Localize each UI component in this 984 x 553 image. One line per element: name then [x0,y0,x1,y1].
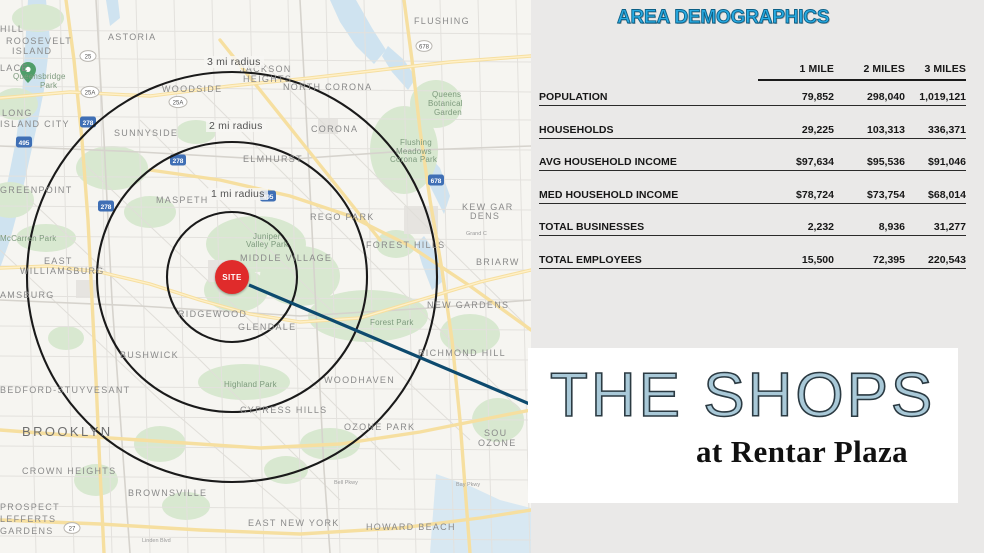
row-underline [539,105,966,106]
table-row: MED HOUSEHOLD INCOME$78,724$73,754$68,01… [536,182,966,215]
svg-text:495: 495 [19,140,30,147]
row-label: POPULATION [539,91,608,103]
table-row: POPULATION79,852298,0401,019,121 [536,84,966,117]
header-underline [758,79,966,81]
svg-text:25A: 25A [85,90,96,96]
svg-text:278: 278 [173,158,184,165]
row-underline [539,138,966,139]
map-basemap: 278 495 278 278 [0,0,531,553]
table-row: HOUSEHOLDS29,225103,313336,371 [536,117,966,150]
site-marker[interactable]: SITE [215,260,249,294]
row-value-3: 1,019,121 [874,91,966,103]
row-value-3: 31,277 [874,221,966,233]
svg-text:278: 278 [101,204,112,211]
logo-primary-text: THE SHOPS [550,365,935,427]
svg-text:25A: 25A [173,100,184,106]
demographics-table: 1 MILE 2 MILES 3 MILES POPULATION79,8522… [536,58,966,279]
table-row: TOTAL EMPLOYEES15,50072,395220,543 [536,247,966,280]
table-row: TOTAL BUSINESSES2,2328,93631,277 [536,214,966,247]
svg-text:25: 25 [85,54,92,60]
logo-secondary-text: at Rentar Plaza [696,436,908,467]
column-header-3miles: 3 MILES [874,63,966,75]
row-label: AVG HOUSEHOLD INCOME [539,156,677,168]
row-label: HOUSEHOLDS [539,124,614,136]
site-marker-label: SITE [222,273,241,282]
row-underline [539,170,966,171]
row-value-3: $68,014 [874,189,966,201]
table-row: AVG HOUSEHOLD INCOME$97,634$95,536$91,04… [536,149,966,182]
row-value-3: $91,046 [874,156,966,168]
radius-label-2mi: 2 mi radius [206,120,266,132]
table-header-row: 1 MILE 2 MILES 3 MILES [536,58,966,84]
row-underline [539,203,966,204]
radius-label-1mi: 1 mi radius [208,188,268,200]
row-underline [539,235,966,236]
row-label: TOTAL BUSINESSES [539,221,644,233]
svg-text:27: 27 [69,526,76,532]
row-underline [539,268,966,269]
row-label: MED HOUSEHOLD INCOME [539,189,678,201]
svg-text:678: 678 [431,178,442,185]
radius-label-3mi: 3 mi radius [204,56,264,68]
row-label: TOTAL EMPLOYEES [539,254,642,266]
row-value-3: 336,371 [874,124,966,136]
logo-box: THE SHOPS at Rentar Plaza [528,348,958,503]
map-panel[interactable]: 278 495 278 278 [0,0,531,553]
table-body: POPULATION79,852298,0401,019,121HOUSEHOL… [536,84,966,279]
row-value-3: 220,543 [874,254,966,266]
slide-root: 278 495 278 278 [0,0,984,553]
page-title: AREA DEMOGRAPHICS [617,7,829,29]
svg-text:678: 678 [419,44,430,50]
